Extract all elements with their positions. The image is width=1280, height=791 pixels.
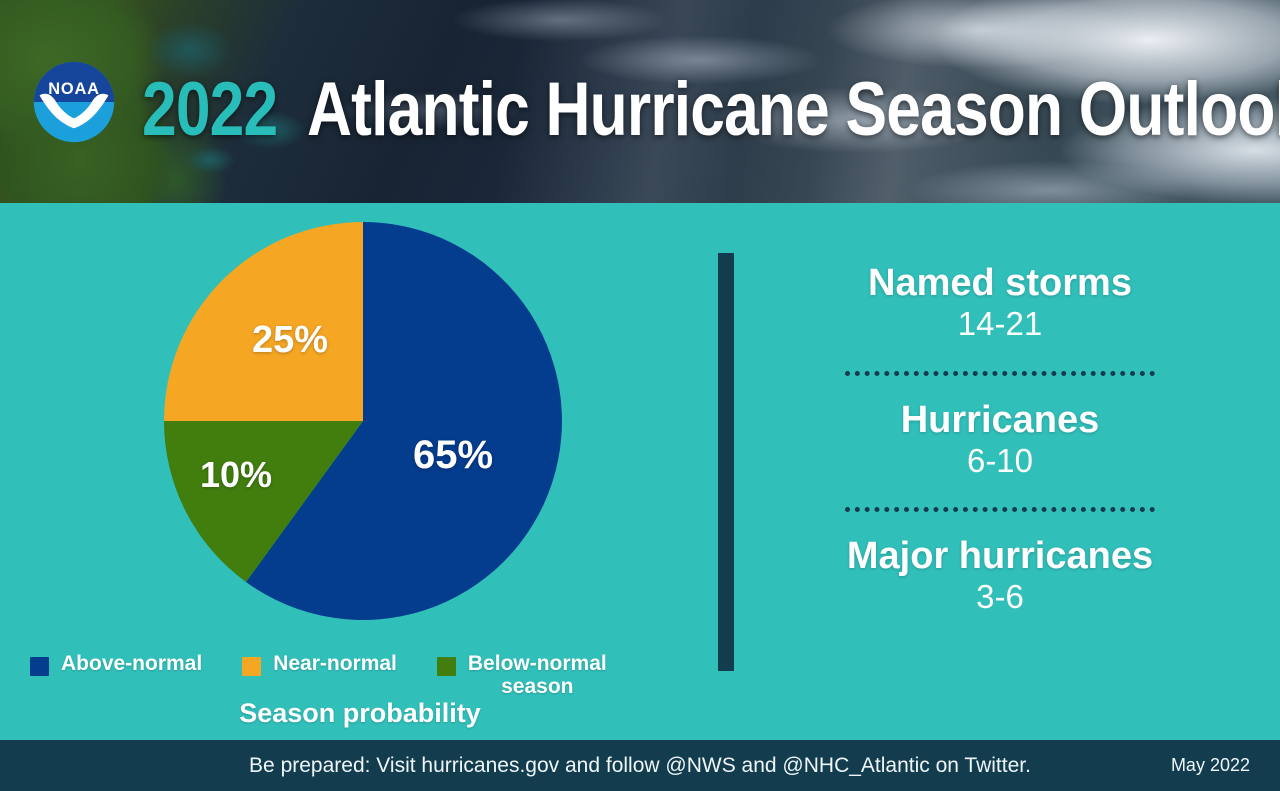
stat-title-major-hurricanes: Major hurricanes [760,536,1240,576]
page-title: 2022 Atlantic Hurricane Season Outlook [142,60,1280,160]
dotted-divider-1 [845,371,1155,376]
pie-label-above-normal: 65% [413,433,493,478]
dotted-divider-2 [845,507,1155,512]
vertical-divider [718,253,734,671]
chart-legend: Above-normal Near-normal Below-normalsea… [30,653,690,698]
legend-swatch-below-normal [437,657,456,676]
title-year: 2022 [142,72,277,148]
legend-item-above-normal: Above-normal [30,653,202,676]
pie-label-below-normal: 10% [200,454,272,496]
hurricane-outlook-infographic: NOAA 2022 Atlantic Hurricane Season Outl… [0,0,1280,791]
stat-named-storms: Named storms 14-21 [760,263,1240,345]
title-rest: Atlantic Hurricane Season Outlook [307,72,1280,148]
stat-value-named-storms: 14-21 [760,303,1240,344]
header-banner: NOAA 2022 Atlantic Hurricane Season Outl… [0,0,1280,203]
legend-label-near-normal: Near-normal [273,653,397,676]
stat-title-named-storms: Named storms [760,263,1240,303]
season-probability-pie-chart: 65% 25% 10% [163,221,563,621]
legend-label-below-normal-line1: Below-normal [468,652,607,675]
stat-major-hurricanes: Major hurricanes 3-6 [760,536,1240,618]
legend-swatch-near-normal [242,657,261,676]
forecast-stats-panel: Named storms 14-21 Hurricanes 6-10 Major… [760,263,1240,618]
svg-text:NOAA: NOAA [48,80,100,98]
stat-title-hurricanes: Hurricanes [760,400,1240,440]
footer-message: Be prepared: Visit hurricanes.gov and fo… [0,740,1280,791]
footer-date: May 2022 [1171,740,1250,791]
noaa-logo-icon: NOAA [33,61,115,143]
main-content: 65% 25% 10% Above-normal Near-normal Bel… [0,203,1280,740]
pie-label-near-normal: 25% [252,319,328,362]
stat-value-hurricanes: 6-10 [760,440,1240,481]
legend-label-above-normal: Above-normal [61,653,202,676]
footer-bar: Be prepared: Visit hurricanes.gov and fo… [0,740,1280,791]
stat-value-major-hurricanes: 3-6 [760,576,1240,617]
legend-item-near-normal: Near-normal [242,653,397,676]
stat-hurricanes: Hurricanes 6-10 [760,400,1240,482]
legend-label-below-normal-line2: season [468,676,607,699]
legend-label-below-normal: Below-normalseason [468,653,607,698]
legend-caption: Season probability [200,698,520,729]
legend-swatch-above-normal [30,657,49,676]
legend-item-below-normal: Below-normalseason [437,653,607,698]
